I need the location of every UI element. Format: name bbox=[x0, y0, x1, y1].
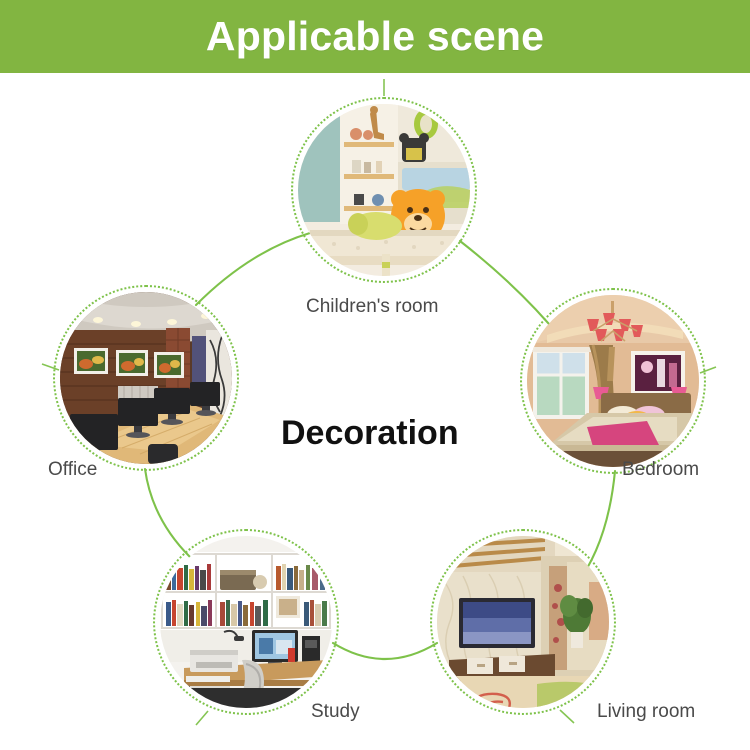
study-photo[interactable] bbox=[160, 536, 332, 708]
page-title: Applicable scene bbox=[206, 16, 544, 57]
label-living-room: Living room bbox=[597, 702, 695, 721]
label-study: Study bbox=[311, 702, 360, 721]
diagram-stage: Children's room bbox=[0, 73, 750, 750]
office-photo[interactable] bbox=[60, 292, 232, 464]
center-label: Decoration bbox=[281, 416, 459, 450]
node-office[interactable] bbox=[53, 285, 239, 471]
header-banner: Applicable scene bbox=[0, 0, 750, 73]
node-study[interactable] bbox=[153, 529, 339, 715]
label-bedroom: Bedroom bbox=[622, 460, 699, 479]
node-bedroom[interactable] bbox=[520, 288, 706, 474]
label-office: Office bbox=[48, 460, 97, 479]
living-room-photo[interactable] bbox=[437, 536, 609, 708]
applicable-scene-infographic: Applicable scene bbox=[0, 0, 750, 750]
childrens-room-photo[interactable] bbox=[298, 104, 470, 276]
bedroom-photo[interactable] bbox=[527, 295, 699, 467]
node-childrens-room[interactable] bbox=[291, 97, 477, 283]
node-living-room[interactable] bbox=[430, 529, 616, 715]
label-childrens-room: Children's room bbox=[306, 297, 438, 316]
